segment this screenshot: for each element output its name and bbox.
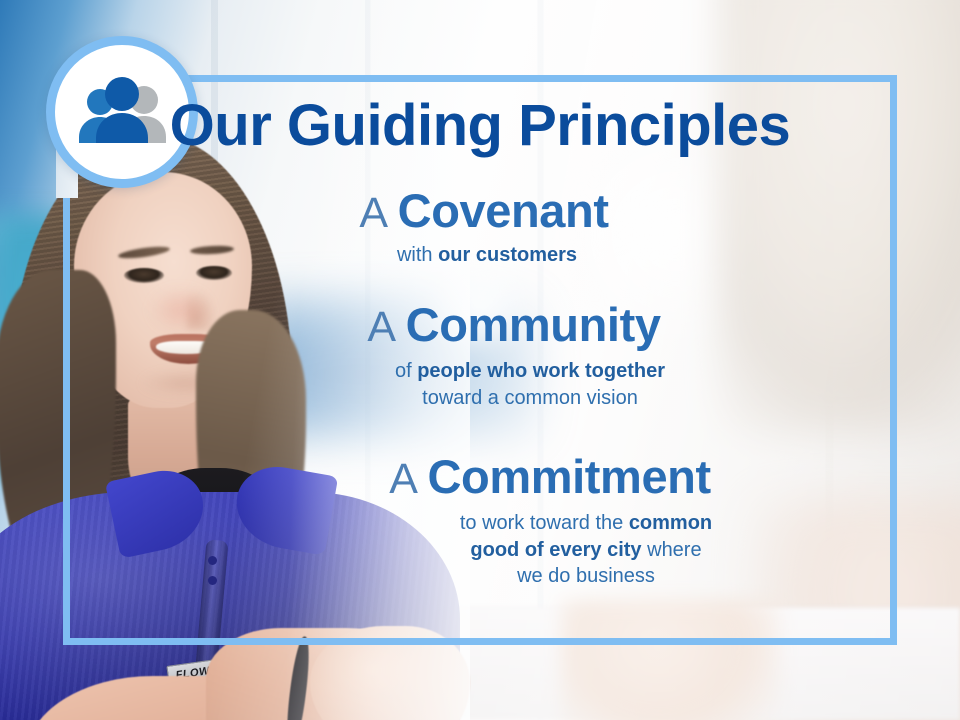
employee-cheek [150, 288, 212, 332]
employee-polo-button [208, 556, 217, 565]
employee-clasped-hands [310, 626, 470, 720]
people-badge-circle [46, 36, 198, 188]
guiding-principles-poster: FLOW FLOW AUTOMOTIVE Our Guiding [0, 0, 960, 720]
employee-eye-left [124, 268, 164, 283]
people-group-icon [73, 75, 171, 149]
background-blurred-customer [718, 0, 960, 434]
employee-eye-right [196, 266, 232, 280]
employee-photo-subject: FLOW FLOW AUTOMOTIVE [0, 120, 470, 720]
background-customer-hand [560, 600, 780, 720]
